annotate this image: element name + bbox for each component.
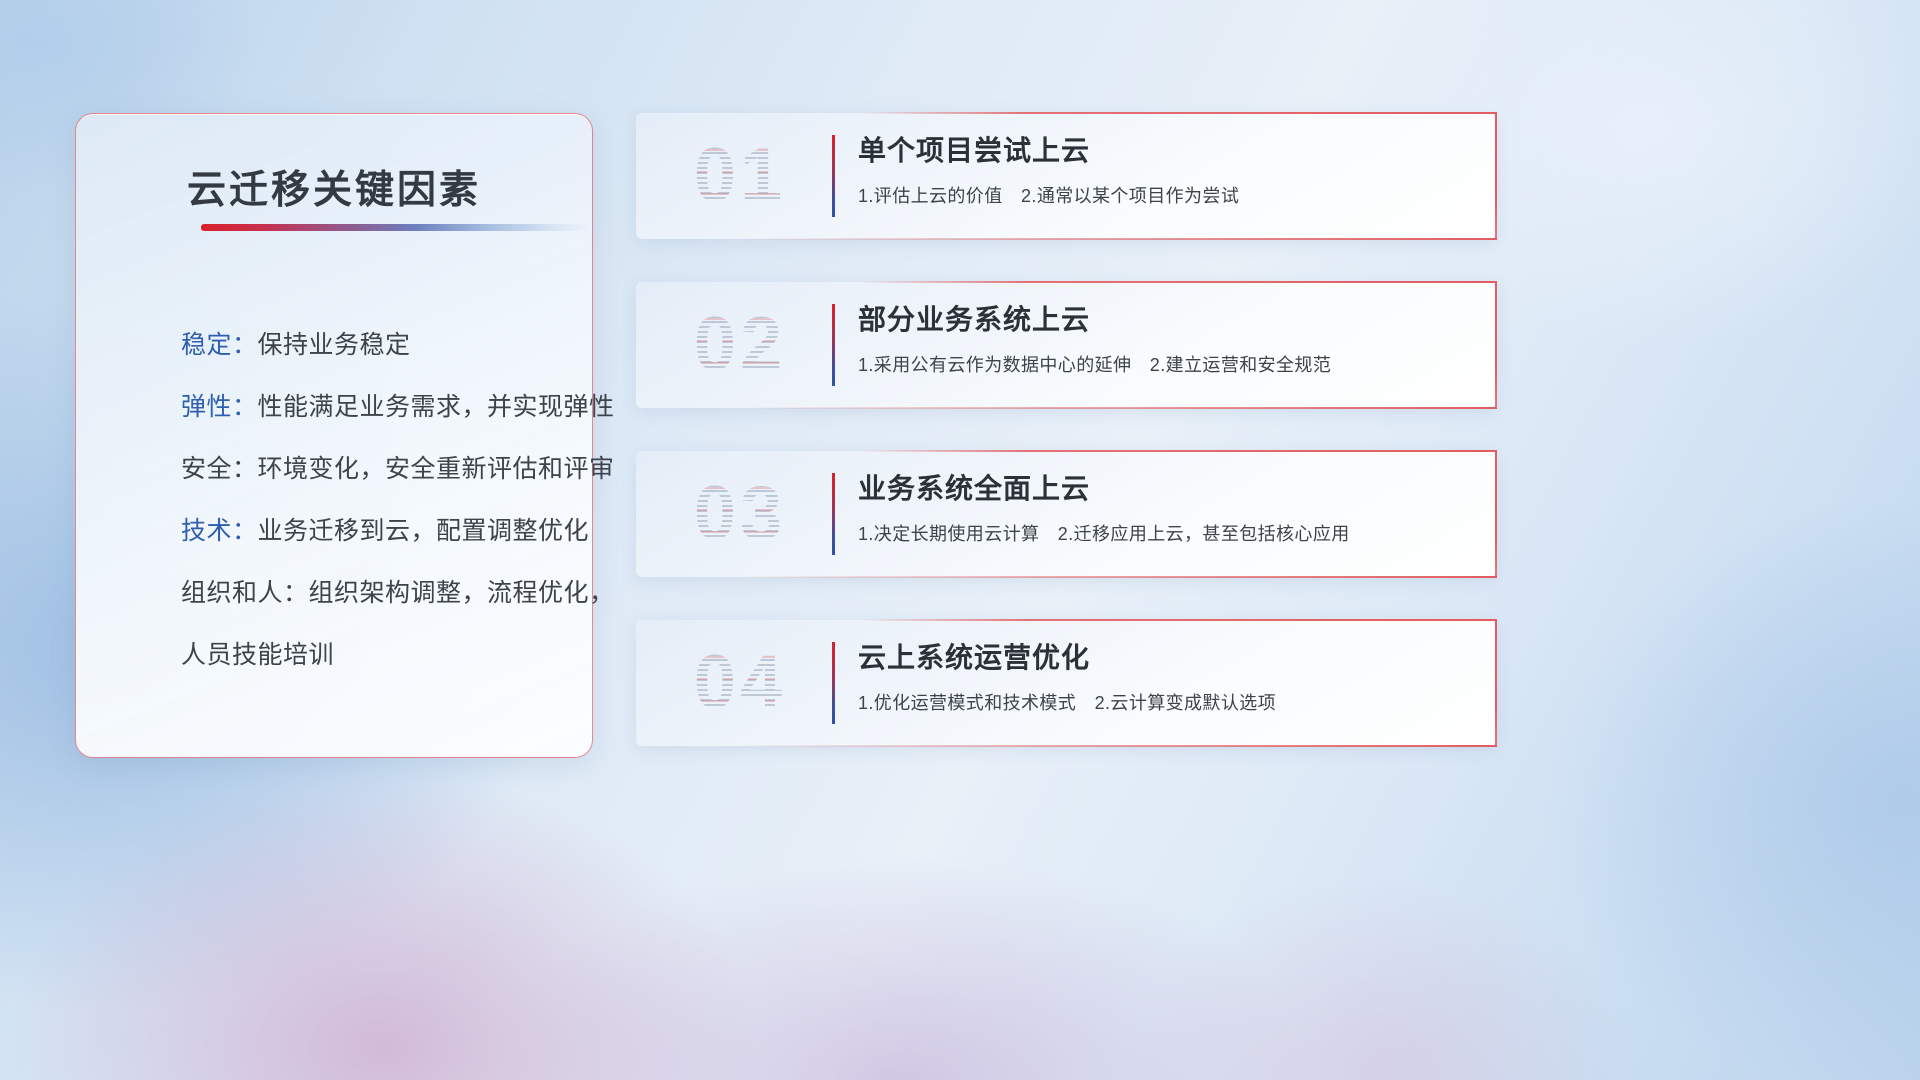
stage-divider-bar bbox=[832, 473, 835, 555]
stage-title: 部分业务系统上云 bbox=[858, 300, 1476, 340]
stage-number: 01 bbox=[660, 127, 820, 225]
factor-text: 业务迁移到云，配置调整优化 bbox=[258, 517, 590, 545]
stage-divider-bar bbox=[832, 304, 835, 386]
stage-divider-bar bbox=[832, 135, 835, 217]
stage-number: 04 bbox=[660, 634, 820, 732]
factor-row: 技术：业务迁移到云，配置调整优化 bbox=[181, 500, 568, 562]
factor-text: 人员技能培训 bbox=[181, 641, 334, 669]
key-factors-panel: 云迁移关键因素 稳定：保持业务稳定弹性：性能满足业务需求，并实现弹性安全：环境变… bbox=[75, 113, 593, 758]
stage-card[interactable]: 0101单个项目尝试上云1.评估上云的价值 2.通常以某个项目作为尝试 bbox=[636, 113, 1496, 239]
stage-card-body: 云上系统运营优化1.优化运营模式和技术模式 2.云计算变成默认选项 bbox=[858, 638, 1476, 716]
factor-row: 稳定：保持业务稳定 bbox=[181, 314, 568, 376]
stage-description: 1.采用公有云作为数据中心的延伸 2.建立运营和安全规范 bbox=[858, 352, 1476, 378]
factor-label: 稳定： bbox=[181, 331, 258, 359]
card-bottom-accent bbox=[739, 745, 1497, 747]
stage-description: 1.评估上云的价值 2.通常以某个项目作为尝试 bbox=[858, 183, 1476, 209]
stage-description: 1.优化运营模式和技术模式 2.云计算变成默认选项 bbox=[858, 690, 1476, 716]
factor-text: 环境变化，安全重新评估和评审 bbox=[258, 455, 615, 483]
factor-label: 安全： bbox=[181, 455, 258, 483]
stage-card-body: 单个项目尝试上云1.评估上云的价值 2.通常以某个项目作为尝试 bbox=[858, 131, 1476, 209]
card-top-accent bbox=[860, 112, 1497, 114]
stage-card-body: 部分业务系统上云1.采用公有云作为数据中心的延伸 2.建立运营和安全规范 bbox=[858, 300, 1476, 378]
stage-card-list: 0101单个项目尝试上云1.评估上云的价值 2.通常以某个项目作为尝试0202部… bbox=[636, 113, 1496, 789]
factor-row: 弹性：性能满足业务需求，并实现弹性 bbox=[181, 376, 568, 438]
card-top-accent bbox=[860, 619, 1497, 621]
stage-card[interactable]: 0202部分业务系统上云1.采用公有云作为数据中心的延伸 2.建立运营和安全规范 bbox=[636, 282, 1496, 408]
title-underline-rule bbox=[201, 224, 591, 231]
card-top-accent bbox=[860, 450, 1497, 452]
card-top-accent bbox=[860, 281, 1497, 283]
stage-title: 云上系统运营优化 bbox=[858, 638, 1476, 678]
factor-row: 人员技能培训 bbox=[181, 624, 568, 686]
stage-card[interactable]: 0404云上系统运营优化1.优化运营模式和技术模式 2.云计算变成默认选项 bbox=[636, 620, 1496, 746]
factor-text: 性能满足业务需求，并实现弹性 bbox=[258, 393, 615, 421]
card-right-accent bbox=[1495, 450, 1497, 578]
page-title: 云迁移关键因素 bbox=[76, 159, 592, 215]
stage-card[interactable]: 0303业务系统全面上云1.决定长期使用云计算 2.迁移应用上云，甚至包括核心应… bbox=[636, 451, 1496, 577]
factor-label: 技术： bbox=[181, 517, 258, 545]
card-bottom-accent bbox=[739, 576, 1497, 578]
card-bottom-accent bbox=[739, 238, 1497, 240]
card-right-accent bbox=[1495, 619, 1497, 747]
stage-title: 单个项目尝试上云 bbox=[858, 131, 1476, 171]
card-bottom-accent bbox=[739, 407, 1497, 409]
factor-label: 弹性： bbox=[181, 393, 258, 421]
stage-description: 1.决定长期使用云计算 2.迁移应用上云，甚至包括核心应用 bbox=[858, 521, 1476, 547]
factor-row: 组织和人：组织架构调整，流程优化， bbox=[181, 562, 568, 624]
card-right-accent bbox=[1495, 112, 1497, 240]
stage-card-body: 业务系统全面上云1.决定长期使用云计算 2.迁移应用上云，甚至包括核心应用 bbox=[858, 469, 1476, 547]
stage-title: 业务系统全面上云 bbox=[858, 469, 1476, 509]
stage-divider-bar bbox=[832, 642, 835, 724]
stage-number: 03 bbox=[660, 465, 820, 563]
factor-label: 组织和人： bbox=[181, 579, 309, 607]
factor-text: 保持业务稳定 bbox=[258, 331, 411, 359]
factor-list: 稳定：保持业务稳定弹性：性能满足业务需求，并实现弹性安全：环境变化，安全重新评估… bbox=[181, 314, 568, 686]
factor-row: 安全：环境变化，安全重新评估和评审 bbox=[181, 438, 568, 500]
factor-text: 组织架构调整，流程优化， bbox=[309, 579, 615, 607]
stage-number: 02 bbox=[660, 296, 820, 394]
card-right-accent bbox=[1495, 281, 1497, 409]
